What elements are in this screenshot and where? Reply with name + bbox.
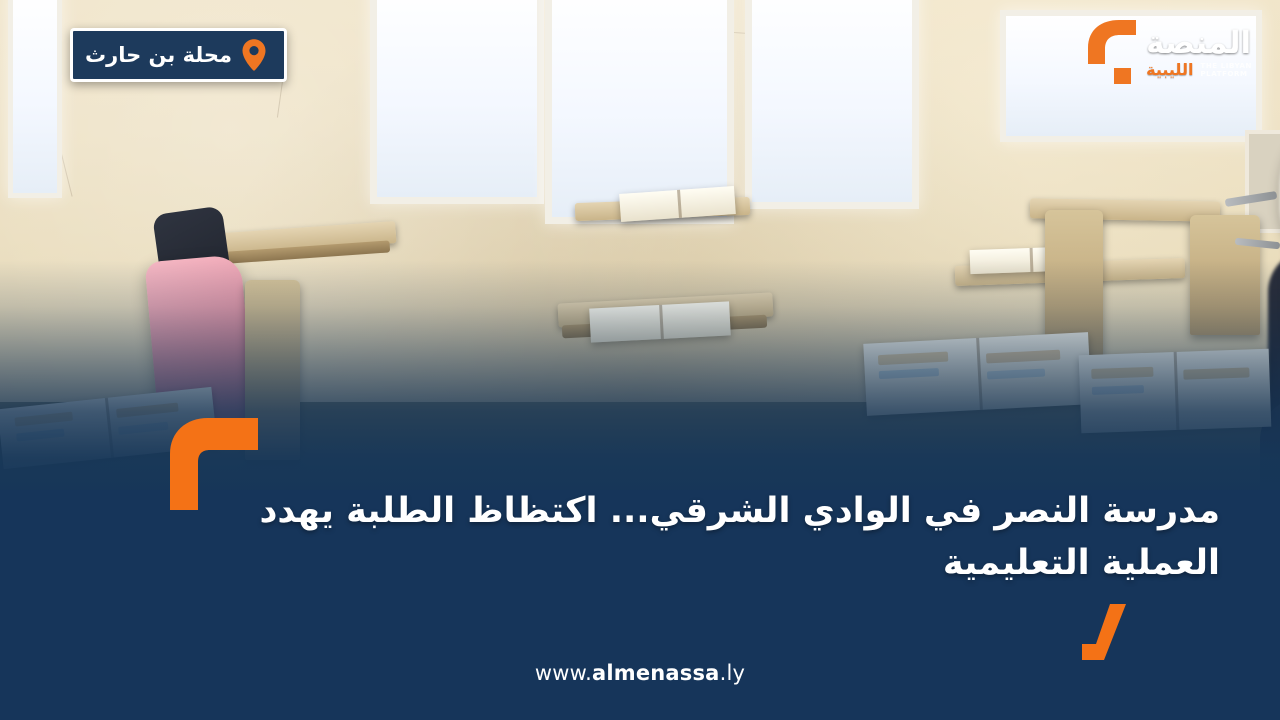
url-brand: almenassa bbox=[592, 661, 720, 685]
orange-angle-bracket-icon bbox=[1082, 604, 1142, 662]
window-pane-3 bbox=[745, 0, 919, 209]
location-badge-label: محلة بن حارث bbox=[85, 45, 232, 66]
url-prefix: www. bbox=[535, 661, 592, 685]
website-url[interactable]: www.almenassa.ly bbox=[0, 663, 1280, 684]
window-left-edge bbox=[8, 0, 62, 198]
location-badge[interactable]: محلة بن حارث bbox=[70, 28, 287, 82]
news-card: محلة بن حارث المنصة THE LIBYAN PLATFORM … bbox=[0, 0, 1280, 720]
window-pane-1 bbox=[370, 0, 544, 204]
orange-corner-bracket-icon bbox=[170, 418, 258, 510]
brand-subtitle-arabic: الليبية bbox=[1146, 62, 1193, 78]
almenassa-logo-mark-icon bbox=[1084, 18, 1140, 86]
brand-name-arabic: المنصة bbox=[1146, 28, 1251, 59]
brand-name-english: THE LIBYAN PLATFORM bbox=[1200, 62, 1252, 79]
brand-logo-text: المنصة THE LIBYAN PLATFORM الليبية bbox=[1146, 18, 1252, 79]
brand-logo[interactable]: المنصة THE LIBYAN PLATFORM الليبية bbox=[1084, 18, 1252, 86]
url-suffix: .ly bbox=[720, 661, 746, 685]
map-pin-icon bbox=[240, 38, 268, 72]
headline: مدرسة النصر في الوادي الشرقي... اكتظاظ ا… bbox=[250, 486, 1220, 590]
